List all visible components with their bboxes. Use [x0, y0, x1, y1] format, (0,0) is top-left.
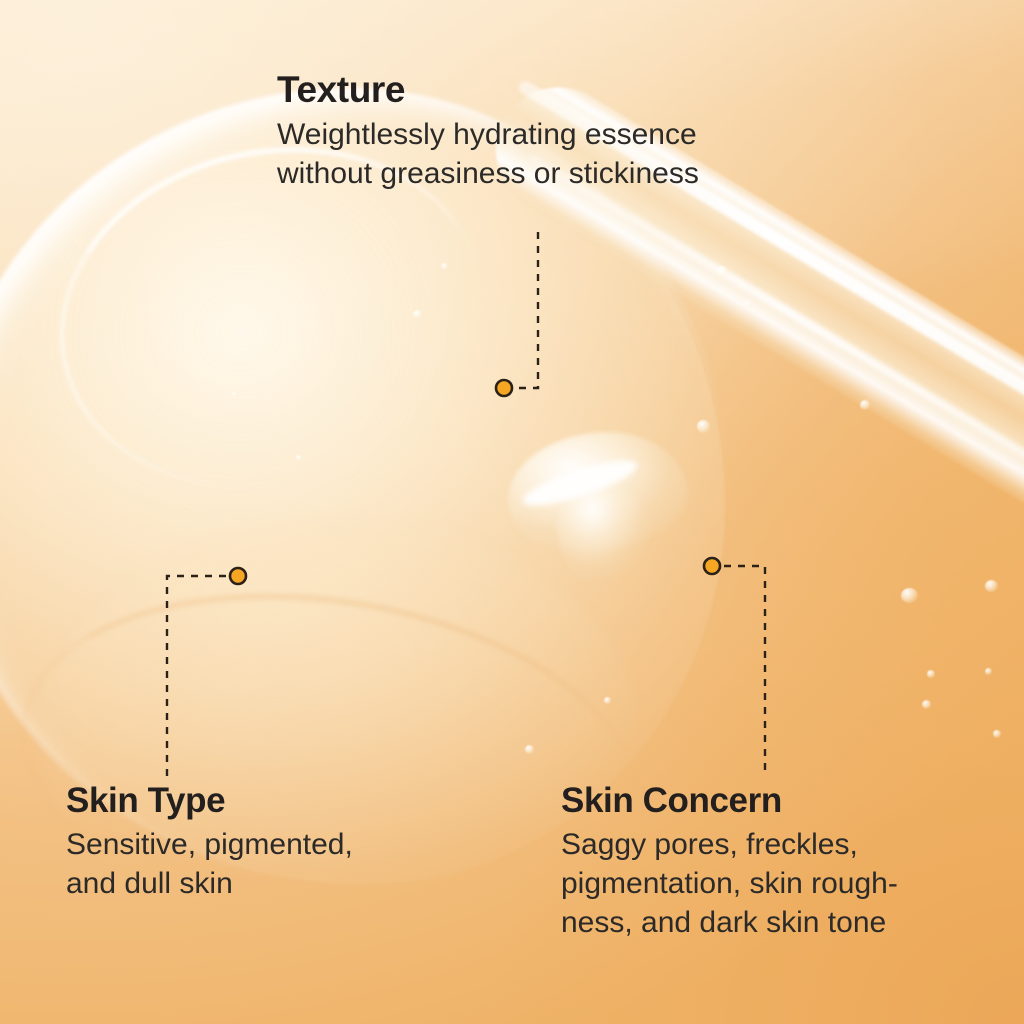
callout-texture-body: Weightlessly hydrating essence without g…: [277, 115, 699, 193]
marker-dot-skin-concern[interactable]: [704, 558, 720, 574]
callout-skin-concern: Skin Concern Saggy pores, freckles, pigm…: [561, 782, 898, 942]
callout-texture: Texture Weightlessly hydrating essence w…: [277, 70, 699, 193]
callout-skin-type: Skin Type Sensitive, pigmented, and dull…: [66, 782, 353, 903]
connector-line-skin-type: [167, 576, 226, 783]
marker-dot-texture[interactable]: [496, 380, 512, 396]
connector-line-skin-concern: [724, 566, 765, 777]
callout-texture-title: Texture: [277, 70, 699, 111]
marker-dot-skin-type[interactable]: [230, 568, 246, 584]
callout-skin-type-title: Skin Type: [66, 782, 353, 821]
infographic-canvas: Texture Weightlessly hydrating essence w…: [0, 0, 1024, 1024]
callout-skin-concern-title: Skin Concern: [561, 782, 898, 821]
callout-skin-type-body: Sensitive, pigmented, and dull skin: [66, 825, 353, 903]
callout-skin-concern-body: Saggy pores, freckles, pigmentation, ski…: [561, 825, 898, 942]
connector-line-texture: [516, 232, 538, 388]
